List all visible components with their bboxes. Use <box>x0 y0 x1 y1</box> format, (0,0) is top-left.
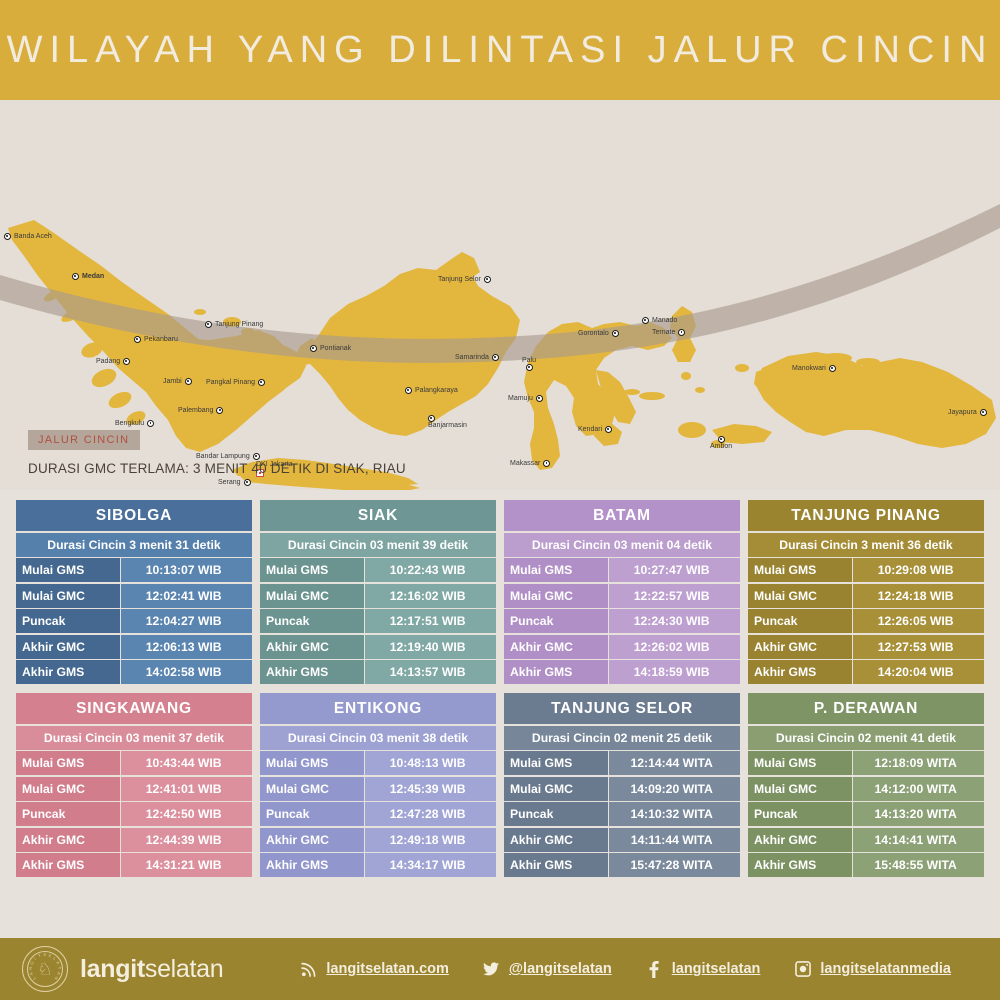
row-label: Mulai GMC <box>748 584 852 608</box>
row-label: Akhir GMC <box>748 828 852 852</box>
table-row: Puncak12:42:50 WIB <box>16 802 252 826</box>
map-city-ambon: Ambon <box>710 436 732 450</box>
city-marker-icon <box>484 276 491 283</box>
map-city-pontianak: Pontianak <box>310 345 351 352</box>
infographic-page: WILAYAH YANG DILINTASI JALUR CINCIN <box>0 0 1000 1000</box>
card-siak: SIAK Durasi Cincin 03 menit 39 detik Mul… <box>260 500 496 684</box>
table-row: Akhir GMC12:49:18 WIB <box>260 828 496 852</box>
card-rows: Mulai GMS12:18:09 WITA Mulai GMC14:12:00… <box>748 751 984 877</box>
row-label: Akhir GMS <box>748 853 852 877</box>
row-value: 14:31:21 WIB <box>121 853 252 877</box>
row-label: Mulai GMS <box>748 558 852 582</box>
card-title: P. DERAWAN <box>748 693 984 724</box>
card-singkawang: SINGKAWANG Durasi Cincin 03 menit 37 det… <box>16 693 252 877</box>
row-label: Puncak <box>504 609 608 633</box>
row-value: 10:27:47 WIB <box>609 558 740 582</box>
row-label: Akhir GMC <box>16 635 120 659</box>
brand-block: ♘ LANGITSELATAN langitselatan <box>22 946 223 992</box>
table-row: Mulai GMS10:29:08 WIB <box>748 558 984 582</box>
table-row: Mulai GMS10:43:44 WIB <box>16 751 252 775</box>
city-timing-cards: SIBOLGA Durasi Cincin 3 menit 31 detik M… <box>0 500 1000 877</box>
map-legend: JALUR CINCIN DURASI GMC TERLAMA: 3 MENIT… <box>28 430 406 476</box>
table-row: Akhir GMC12:06:13 WIB <box>16 635 252 659</box>
map-section: Banda Aceh Medan Pekanbaru Tanjung Pinan… <box>0 100 1000 490</box>
card-rows: Mulai GMS10:48:13 WIB Mulai GMC12:45:39 … <box>260 751 496 877</box>
city-marker-icon <box>718 436 725 443</box>
row-value: 12:19:40 WIB <box>365 635 496 659</box>
city-marker-icon <box>123 358 130 365</box>
row-value: 12:44:39 WIB <box>121 828 252 852</box>
city-marker-icon <box>258 379 265 386</box>
row-value: 14:13:20 WITA <box>853 802 984 826</box>
map-city-serang: Serang <box>218 479 251 486</box>
row-label: Mulai GMC <box>504 777 608 801</box>
city-marker-icon <box>612 330 619 337</box>
card-title: SIBOLGA <box>16 500 252 531</box>
social-link-website[interactable]: langitselatan.com <box>300 961 448 978</box>
row-value: 15:47:28 WITA <box>609 853 740 877</box>
row-label: Puncak <box>16 802 120 826</box>
map-city-palu: Palu <box>522 357 536 371</box>
map-city-makassar: Makassar <box>510 460 550 467</box>
map-city-palembang: Palembang <box>178 407 223 414</box>
table-row: Akhir GMC12:44:39 WIB <box>16 828 252 852</box>
table-row: Puncak14:10:32 WITA <box>504 802 740 826</box>
card-rows: Mulai GMS12:14:44 WITA Mulai GMC14:09:20… <box>504 751 740 877</box>
card-title: TANJUNG SELOR <box>504 693 740 724</box>
page-title: WILAYAH YANG DILINTASI JALUR CINCIN <box>7 29 994 72</box>
table-row: Mulai GMC12:22:57 WIB <box>504 584 740 608</box>
city-marker-icon <box>216 407 223 414</box>
row-label: Mulai GMS <box>260 751 364 775</box>
row-value: 10:29:08 WIB <box>853 558 984 582</box>
card-rows: Mulai GMS10:27:47 WIB Mulai GMC12:22:57 … <box>504 558 740 684</box>
row-label: Akhir GMS <box>504 853 608 877</box>
row-label: Mulai GMS <box>16 751 120 775</box>
card-tanjung-selor: TANJUNG SELOR Durasi Cincin 02 menit 25 … <box>504 693 740 877</box>
card-duration: Durasi Cincin 03 menit 39 detik <box>260 533 496 557</box>
row-label: Akhir GMS <box>16 660 120 684</box>
row-label: Puncak <box>260 609 364 633</box>
city-marker-icon <box>147 420 154 427</box>
row-value: 12:22:57 WIB <box>609 584 740 608</box>
card-title: SIAK <box>260 500 496 531</box>
city-marker-icon <box>605 426 612 433</box>
row-value: 12:16:02 WIB <box>365 584 496 608</box>
row-label: Mulai GMC <box>260 584 364 608</box>
row-label: Mulai GMS <box>260 558 364 582</box>
card-duration: Durasi Cincin 02 menit 25 detik <box>504 726 740 750</box>
row-value: 12:06:13 WIB <box>121 635 252 659</box>
row-label: Puncak <box>748 802 852 826</box>
city-marker-icon <box>405 387 412 394</box>
table-row: Mulai GMC12:16:02 WIB <box>260 584 496 608</box>
table-row: Puncak14:13:20 WITA <box>748 802 984 826</box>
row-value: 14:12:00 WITA <box>853 777 984 801</box>
row-value: 12:45:39 WIB <box>365 777 496 801</box>
row-label: Akhir GMS <box>260 853 364 877</box>
city-marker-icon <box>642 317 649 324</box>
card-title: BATAM <box>504 500 740 531</box>
map-city-samarinda: Samarinda <box>455 354 499 361</box>
card-title: SINGKAWANG <box>16 693 252 724</box>
row-label: Akhir GMC <box>16 828 120 852</box>
row-label: Mulai GMC <box>260 777 364 801</box>
table-row: Puncak12:24:30 WIB <box>504 609 740 633</box>
row-value: 15:48:55 WITA <box>853 853 984 877</box>
instagram-icon <box>794 961 811 978</box>
facebook-icon <box>646 961 663 978</box>
row-value: 12:26:05 WIB <box>853 609 984 633</box>
table-row: Akhir GMC12:19:40 WIB <box>260 635 496 659</box>
brand-name: langitselatan <box>80 955 223 984</box>
legend-caption: DURASI GMC TERLAMA: 3 MENIT 40 DETIK DI … <box>28 461 406 476</box>
map-city-pekanbaru: Pekanbaru <box>134 336 178 343</box>
row-label: Akhir GMS <box>16 853 120 877</box>
row-label: Akhir GMS <box>748 660 852 684</box>
row-label: Akhir GMC <box>504 828 608 852</box>
table-row: Akhir GMS14:13:57 WIB <box>260 660 496 684</box>
row-value: 12:41:01 WIB <box>121 777 252 801</box>
city-marker-icon <box>205 321 212 328</box>
social-links: langitselatan.com @langitselatan langits… <box>223 961 978 978</box>
card-p-derawan: P. DERAWAN Durasi Cincin 02 menit 41 det… <box>748 693 984 877</box>
table-row: Akhir GMC14:14:41 WITA <box>748 828 984 852</box>
table-row: Mulai GMC12:24:18 WIB <box>748 584 984 608</box>
row-value: 14:34:17 WIB <box>365 853 496 877</box>
table-row: Mulai GMS12:14:44 WITA <box>504 751 740 775</box>
row-label: Akhir GMC <box>504 635 608 659</box>
map-city-gorontalo: Gorontalo <box>578 330 619 337</box>
table-row: Puncak12:47:28 WIB <box>260 802 496 826</box>
table-row: Mulai GMS10:48:13 WIB <box>260 751 496 775</box>
table-row: Mulai GMC14:12:00 WITA <box>748 777 984 801</box>
row-label: Mulai GMC <box>748 777 852 801</box>
brand-name-bold: langit <box>80 955 145 983</box>
card-title: ENTIKONG <box>260 693 496 724</box>
card-sibolga: SIBOLGA Durasi Cincin 3 menit 31 detik M… <box>16 500 252 684</box>
map-city-jayapura: Jayapura <box>948 409 987 416</box>
row-label: Puncak <box>260 802 364 826</box>
city-marker-icon <box>185 378 192 385</box>
row-label: Puncak <box>16 609 120 633</box>
table-row: Mulai GMC12:41:01 WIB <box>16 777 252 801</box>
row-value: 12:24:30 WIB <box>609 609 740 633</box>
city-marker-icon <box>492 354 499 361</box>
card-duration: Durasi Cincin 03 menit 04 detik <box>504 533 740 557</box>
row-value: 12:42:50 WIB <box>121 802 252 826</box>
social-label: @langitselatan <box>509 961 612 977</box>
map-city-tanjung-selor: Tanjung Selor <box>438 276 491 283</box>
row-value: 12:18:09 WITA <box>853 751 984 775</box>
map-city-banjarmasin: Banjarmasin <box>428 415 467 429</box>
table-row: Mulai GMC14:09:20 WITA <box>504 777 740 801</box>
row-value: 12:24:18 WIB <box>853 584 984 608</box>
card-duration: Durasi Cincin 3 menit 36 detik <box>748 533 984 557</box>
row-value: 10:22:43 WIB <box>365 558 496 582</box>
row-value: 14:11:44 WITA <box>609 828 740 852</box>
card-rows: Mulai GMS10:22:43 WIB Mulai GMC12:16:02 … <box>260 558 496 684</box>
row-label: Akhir GMS <box>260 660 364 684</box>
map-city-manokwari: Manokwari <box>792 365 836 372</box>
table-row: Akhir GMC14:11:44 WITA <box>504 828 740 852</box>
twitter-icon <box>483 961 500 978</box>
card-rows: Mulai GMS10:29:08 WIB Mulai GMC12:24:18 … <box>748 558 984 684</box>
social-label: langitselatanmedia <box>820 961 951 977</box>
row-value: 12:02:41 WIB <box>121 584 252 608</box>
city-marker-icon <box>536 395 543 402</box>
row-label: Mulai GMS <box>16 558 120 582</box>
table-row: Akhir GMS14:18:59 WIB <box>504 660 740 684</box>
page-header: WILAYAH YANG DILINTASI JALUR CINCIN <box>0 0 1000 100</box>
card-duration: Durasi Cincin 03 menit 37 detik <box>16 726 252 750</box>
city-marker-icon <box>134 336 141 343</box>
social-link-twitter[interactable]: @langitselatan <box>483 961 612 978</box>
row-label: Mulai GMS <box>504 751 608 775</box>
row-value: 14:18:59 WIB <box>609 660 740 684</box>
card-rows: Mulai GMS10:13:07 WIB Mulai GMC12:02:41 … <box>16 558 252 684</box>
row-value: 12:14:44 WITA <box>609 751 740 775</box>
table-row: Akhir GMS14:20:04 WIB <box>748 660 984 684</box>
social-link-facebook[interactable]: langitselatan <box>646 961 761 978</box>
row-value: 10:43:44 WIB <box>121 751 252 775</box>
map-city-palangkaraya: Palangkaraya <box>405 387 458 394</box>
row-label: Mulai GMC <box>16 777 120 801</box>
card-rows: Mulai GMS10:43:44 WIB Mulai GMC12:41:01 … <box>16 751 252 877</box>
table-row: Puncak12:17:51 WIB <box>260 609 496 633</box>
row-label: Mulai GMS <box>504 558 608 582</box>
card-batam: BATAM Durasi Cincin 03 menit 04 detik Mu… <box>504 500 740 684</box>
brand-name-light: selatan <box>145 955 224 983</box>
map-city-manado: Manado <box>642 317 677 324</box>
city-marker-icon <box>678 329 685 336</box>
row-label: Akhir GMC <box>748 635 852 659</box>
table-row: Puncak12:26:05 WIB <box>748 609 984 633</box>
legend-jalur-cincin: JALUR CINCIN <box>28 430 140 450</box>
map-city-pangkal-pinang: Pangkal Pinang <box>206 379 265 386</box>
map-city-banda-aceh: Banda Aceh <box>4 233 52 240</box>
table-row: Mulai GMS10:13:07 WIB <box>16 558 252 582</box>
card-entikong: ENTIKONG Durasi Cincin 03 menit 38 detik… <box>260 693 496 877</box>
row-label: Akhir GMS <box>504 660 608 684</box>
row-label: Akhir GMC <box>260 635 364 659</box>
row-label: Puncak <box>748 609 852 633</box>
table-row: Akhir GMC12:26:02 WIB <box>504 635 740 659</box>
city-marker-icon <box>526 364 533 371</box>
row-value: 10:13:07 WIB <box>121 558 252 582</box>
table-row: Akhir GMS15:48:55 WITA <box>748 853 984 877</box>
city-marker-icon <box>980 409 987 416</box>
city-marker-icon <box>428 415 435 422</box>
row-value: 14:09:20 WITA <box>609 777 740 801</box>
table-row: Puncak12:04:27 WIB <box>16 609 252 633</box>
table-row: Mulai GMC12:02:41 WIB <box>16 584 252 608</box>
row-label: Mulai GMC <box>16 584 120 608</box>
table-row: Mulai GMS10:27:47 WIB <box>504 558 740 582</box>
city-marker-icon <box>244 479 251 486</box>
map-city-jambi: Jambi <box>163 378 192 385</box>
row-value: 12:27:53 WIB <box>853 635 984 659</box>
table-row: Mulai GMS12:18:09 WITA <box>748 751 984 775</box>
social-label: langitselatan.com <box>326 961 448 977</box>
row-value: 12:49:18 WIB <box>365 828 496 852</box>
row-value: 14:02:58 WIB <box>121 660 252 684</box>
social-label: langitselatan <box>672 961 761 977</box>
map-city-medan: Medan <box>72 273 104 280</box>
city-marker-icon <box>310 345 317 352</box>
table-row: Akhir GMS15:47:28 WITA <box>504 853 740 877</box>
row-value: 12:26:02 WIB <box>609 635 740 659</box>
card-tanjung-pinang: TANJUNG PINANG Durasi Cincin 3 menit 36 … <box>748 500 984 684</box>
card-duration: Durasi Cincin 3 menit 31 detik <box>16 533 252 557</box>
row-value: 10:48:13 WIB <box>365 751 496 775</box>
city-marker-icon <box>72 273 79 280</box>
city-marker-icon <box>543 460 550 467</box>
row-value: 14:20:04 WIB <box>853 660 984 684</box>
table-row: Akhir GMC12:27:53 WIB <box>748 635 984 659</box>
social-link-instagram[interactable]: langitselatanmedia <box>794 961 951 978</box>
table-row: Mulai GMS10:22:43 WIB <box>260 558 496 582</box>
table-row: Akhir GMS14:02:58 WIB <box>16 660 252 684</box>
table-row: Akhir GMS14:31:21 WIB <box>16 853 252 877</box>
map-city-padang: Padang <box>96 358 130 365</box>
table-row: Mulai GMC12:45:39 WIB <box>260 777 496 801</box>
row-label: Mulai GMC <box>504 584 608 608</box>
row-value: 14:14:41 WITA <box>853 828 984 852</box>
map-city-ternate: Ternate <box>652 329 685 336</box>
map-city-kendari: Kendari <box>578 426 612 433</box>
city-marker-icon <box>4 233 11 240</box>
card-duration: Durasi Cincin 02 menit 41 detik <box>748 726 984 750</box>
row-label: Puncak <box>504 802 608 826</box>
card-title: TANJUNG PINANG <box>748 500 984 531</box>
page-footer: ♘ LANGITSELATAN langitselatan langitsela… <box>0 938 1000 1000</box>
row-value: 14:10:32 WITA <box>609 802 740 826</box>
map-city-tanjung-pinang: Tanjung Pinang <box>205 321 263 328</box>
row-value: 12:47:28 WIB <box>365 802 496 826</box>
map-city-bengkulu: Bengkulu <box>115 420 154 427</box>
city-marker-icon <box>829 365 836 372</box>
seal-ring-text: LANGITSELATAN <box>23 947 67 991</box>
rss-icon <box>300 961 317 978</box>
row-label: Akhir GMC <box>260 828 364 852</box>
map-city-mamuju: Mamuju <box>508 395 543 402</box>
card-duration: Durasi Cincin 03 menit 38 detik <box>260 726 496 750</box>
row-label: Mulai GMS <box>748 751 852 775</box>
row-value: 12:17:51 WIB <box>365 609 496 633</box>
row-value: 14:13:57 WIB <box>365 660 496 684</box>
row-value: 12:04:27 WIB <box>121 609 252 633</box>
table-row: Akhir GMS14:34:17 WIB <box>260 853 496 877</box>
langitselatan-seal-icon: ♘ LANGITSELATAN <box>22 946 68 992</box>
